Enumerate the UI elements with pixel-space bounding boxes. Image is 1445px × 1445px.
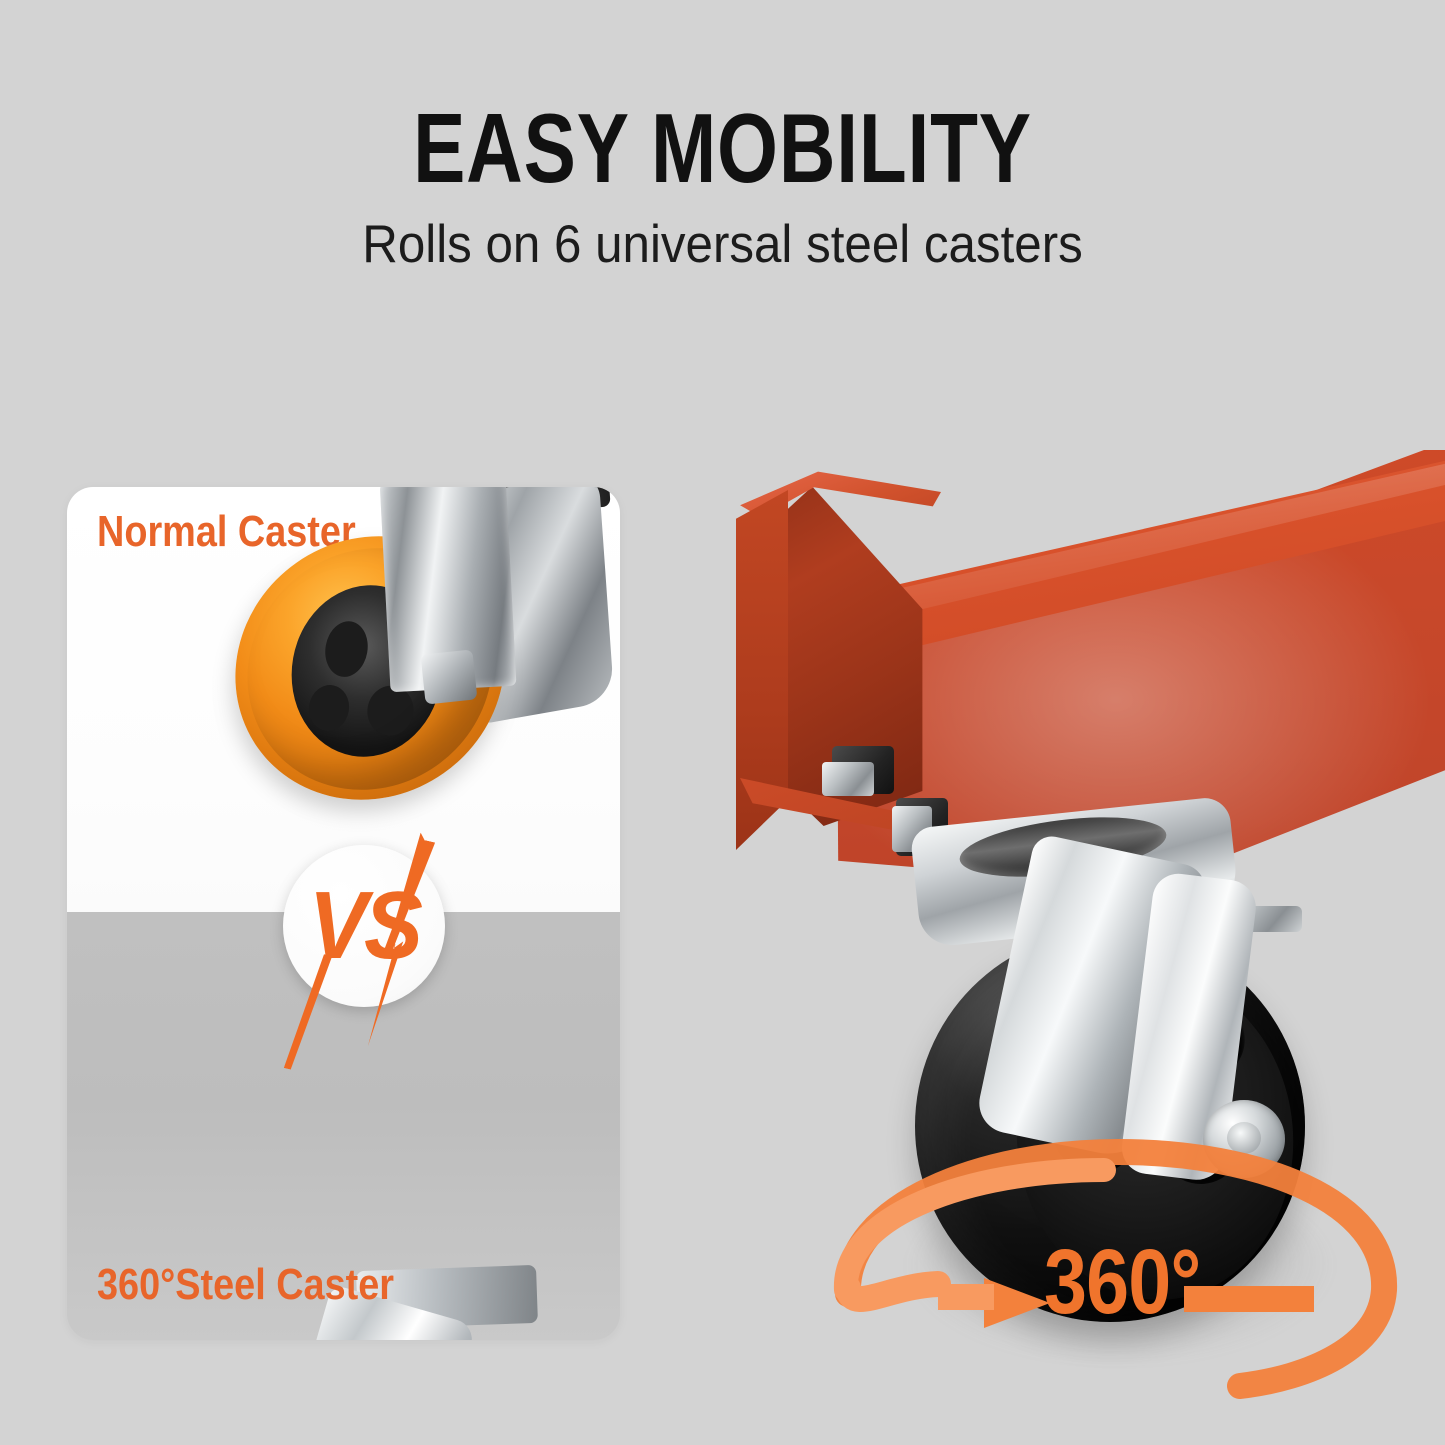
rotation-label: 360° [1044,1230,1200,1335]
steel-caster-label: 360°Steel Caster [97,1260,394,1310]
page-title: EASY MOBILITY [145,92,1301,205]
hex-nut [822,762,874,796]
normal-caster-illustration [187,487,607,897]
axle-nut [421,649,478,704]
rotation-annotation: 360° [788,1118,1428,1408]
page-subtitle: Rolls on 6 universal steel casters [51,214,1395,275]
product-feature-image: EASY MOBILITY Rolls on 6 universal steel… [0,0,1445,1445]
